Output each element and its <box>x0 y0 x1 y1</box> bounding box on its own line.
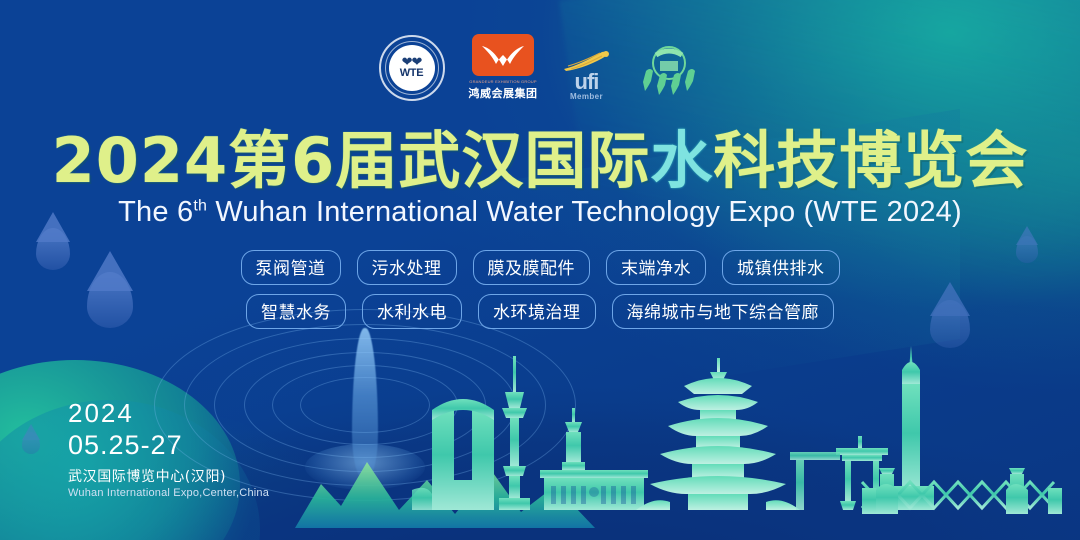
expo-poster: ❤❤ WTE GRANDEUR EXHIBITION GROUP 鸿威会展集团 … <box>0 0 1080 540</box>
logo-row: ❤❤ WTE GRANDEUR EXHIBITION GROUP 鸿威会展集团 … <box>0 34 1080 101</box>
arch-building-icon <box>412 399 494 510</box>
tag-water-environment[interactable]: 水环境治理 <box>478 294 596 329</box>
title-cn-suffix: 科技博览会 <box>713 124 1028 197</box>
title-cn-water-char: 水 <box>650 124 713 197</box>
tag-sewage-treatment[interactable]: 污水处理 <box>357 250 457 285</box>
hongwei-logo-en: GRANDEUR EXHIBITION GROUP <box>469 79 536 84</box>
ufi-logo-text: ufi <box>575 72 599 92</box>
event-date-block: 2024 05.25-27 武汉国际博览中心(汉阳) Wuhan Interna… <box>68 400 269 499</box>
hongwei-logo-icon <box>472 34 534 76</box>
tag-water-conservancy[interactable]: 水利水电 <box>362 294 462 329</box>
tag-pump-valve-pipe[interactable]: 泵阀管道 <box>241 250 341 285</box>
event-days: 05.25-27 <box>68 430 269 460</box>
wte-logo-text: WTE <box>400 67 424 79</box>
wte-logo-icon: ❤❤ WTE <box>379 35 445 101</box>
venue-name-en: Wuhan International Expo,Center,China <box>68 487 269 499</box>
hongwei-logo-cn: 鸿威会展集团 <box>469 85 538 101</box>
tag-membrane-parts[interactable]: 膜及膜配件 <box>473 250 591 285</box>
title-cn-prefix: 2024第6届武汉国际 <box>52 124 651 197</box>
venue-name-cn: 武汉国际博览中心(汉阳) <box>68 466 269 486</box>
tag-row-2: 智慧水务 水利水电 水环境治理 海绵城市与地下综合管廊 <box>246 294 834 329</box>
tv-tower-icon <box>499 356 530 510</box>
yellow-crane-tower-icon <box>636 358 800 510</box>
green-emblem-logo <box>636 41 702 101</box>
page-title: 2024第6届武汉国际水科技博览会 <box>0 130 1080 192</box>
ufi-member-label: Member <box>570 92 603 101</box>
subtitle-ordinal: th <box>193 197 207 214</box>
clock-tower-hall-icon <box>540 408 648 510</box>
hongwei-logo: GRANDEUR EXHIBITION GROUP 鸿威会展集团 <box>469 34 538 101</box>
event-year: 2024 <box>68 400 269 426</box>
tag-row-1: 泵阀管道 污水处理 膜及膜配件 末端净水 城镇供排水 <box>241 250 840 285</box>
wte-logo: ❤❤ WTE <box>379 35 445 101</box>
tag-smart-water[interactable]: 智慧水务 <box>246 294 346 329</box>
tag-urban-water-supply[interactable]: 城镇供排水 <box>722 250 840 285</box>
page-subtitle: The 6th Wuhan International Water Techno… <box>0 196 1080 229</box>
tag-sponge-city[interactable]: 海绵城市与地下综合管廊 <box>612 294 835 329</box>
subtitle-before: The 6 <box>118 196 193 228</box>
tag-terminal-purification[interactable]: 末端净水 <box>606 250 706 285</box>
green-emblem-icon <box>636 41 702 101</box>
ufi-logo: ufi Member <box>562 50 612 101</box>
category-tag-list: 泵阀管道 污水处理 膜及膜配件 末端净水 城镇供排水 智慧水务 水利水电 水环境… <box>0 250 1080 329</box>
subtitle-after: Wuhan International Water Technology Exp… <box>207 196 962 228</box>
skyscraper-icon <box>888 346 934 510</box>
